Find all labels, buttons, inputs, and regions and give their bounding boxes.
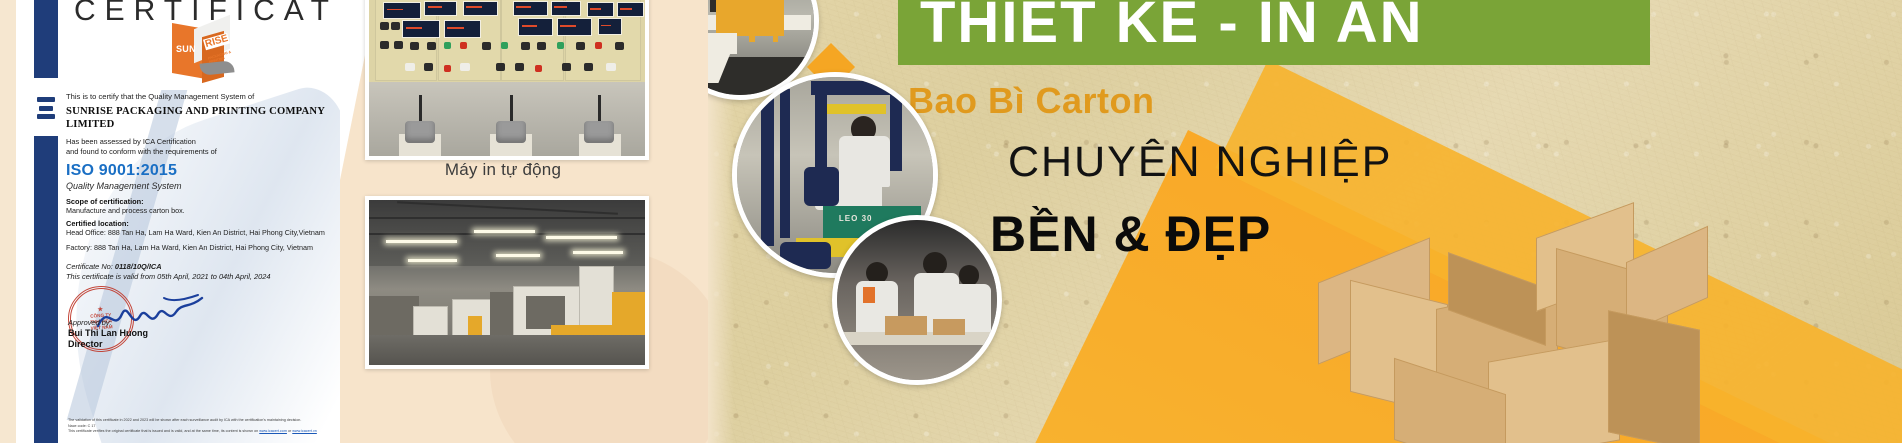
certificate-assessed-line-2: and found to conform with the requiremen…	[66, 147, 338, 157]
printing-control-panel-photo	[365, 0, 649, 160]
tagline-line-4: BỀN & ĐẸP	[990, 205, 1271, 263]
footnote-link-vn[interactable]: www.icacert.vn	[292, 429, 317, 433]
gallery-caption: Máy in tự động	[365, 160, 641, 180]
certificate-standard: ISO 9001:2015	[66, 163, 338, 179]
factory-interior-photo	[365, 196, 649, 369]
certificate-approver: Bui Thi Lan Huong Director	[68, 328, 148, 351]
footnote-or: or	[288, 429, 291, 433]
kraft-banner: THIET KE - IN AN Bao Bì Carton CHUYÊN NG…	[708, 0, 1902, 443]
certificate-head-office: Head Office: 888 Tan Ha, Lam Ha Ward, Ki…	[66, 228, 338, 238]
certificate-number-value: 0118/10Q/ICA	[115, 262, 162, 271]
certificate-number-row: Certificate No: 0118/10Q/ICA	[66, 262, 338, 271]
certificate-location-label: Certified location:	[66, 219, 338, 228]
certificate-body: This is to certify that the Quality Mana…	[66, 92, 338, 281]
certificate-footnote: The validation of this certificate in 20…	[68, 418, 336, 435]
certificate-scope-value: Manufacture and process carton box.	[66, 206, 338, 216]
certificate-standard-subtitle: Quality Management System	[66, 181, 338, 191]
headline-green-bar: THIET KE - IN AN	[898, 0, 1650, 65]
footnote-line-3-row: This certificate verifies the original c…	[68, 429, 336, 435]
tagline-line-3: CHUYÊN NGHIỆP	[1008, 138, 1392, 187]
sunrise-logo-text-sun: SUN	[176, 44, 196, 54]
certificate-blue-bar	[34, 0, 58, 443]
ica-logo-icon	[35, 80, 57, 136]
certificate-assessed-line-1: Has been assessed by ICA Certification	[66, 137, 338, 147]
footnote-link-com[interactable]: www.icacert.com	[259, 429, 287, 433]
certificate-paper: CERTIFICATE SUN RISE PACKAGING & PRINTIN…	[16, 0, 340, 443]
certificate-factory: Factory: 888 Tan Ha, Lam Ha Ward, Kien A…	[66, 243, 338, 253]
certificate-validity: This certificate is valid from 05th Apri…	[66, 272, 338, 281]
certificate-scope-label: Scope of certification:	[66, 197, 338, 206]
carton-boxes-illustration	[1308, 200, 1902, 443]
certificate-panel: CERTIFICATE SUN RISE PACKAGING & PRINTIN…	[0, 0, 340, 443]
certificate-company-name: SUNRISE PACKAGING AND PRINTING COMPANY L…	[66, 106, 338, 131]
certificate-number-label: Certificate No:	[66, 262, 113, 271]
workers-circle-photo	[832, 215, 1002, 385]
subhead-text: Bao Bì Carton	[908, 80, 1155, 122]
approver-name: Bui Thi Lan Huong	[68, 328, 148, 338]
footnote-line-1: The validation of this certificate in 20…	[68, 418, 336, 424]
certificate-approved-label: Approved by:	[68, 318, 112, 327]
gallery-column: Máy in tự động	[340, 0, 708, 443]
sunrise-logo-icon: SUN RISE PACKAGING & PRINTING	[164, 22, 240, 84]
promo-banner-stage: CERTIFICATE SUN RISE PACKAGING & PRINTIN…	[0, 0, 1902, 443]
headline-text: THIET KE - IN AN	[920, 0, 1424, 52]
approver-title: Director	[68, 339, 148, 350]
footnote-line-3: This certificate verifies the original c…	[68, 429, 258, 433]
certificate-lead-line: This is to certify that the Quality Mana…	[66, 92, 338, 101]
